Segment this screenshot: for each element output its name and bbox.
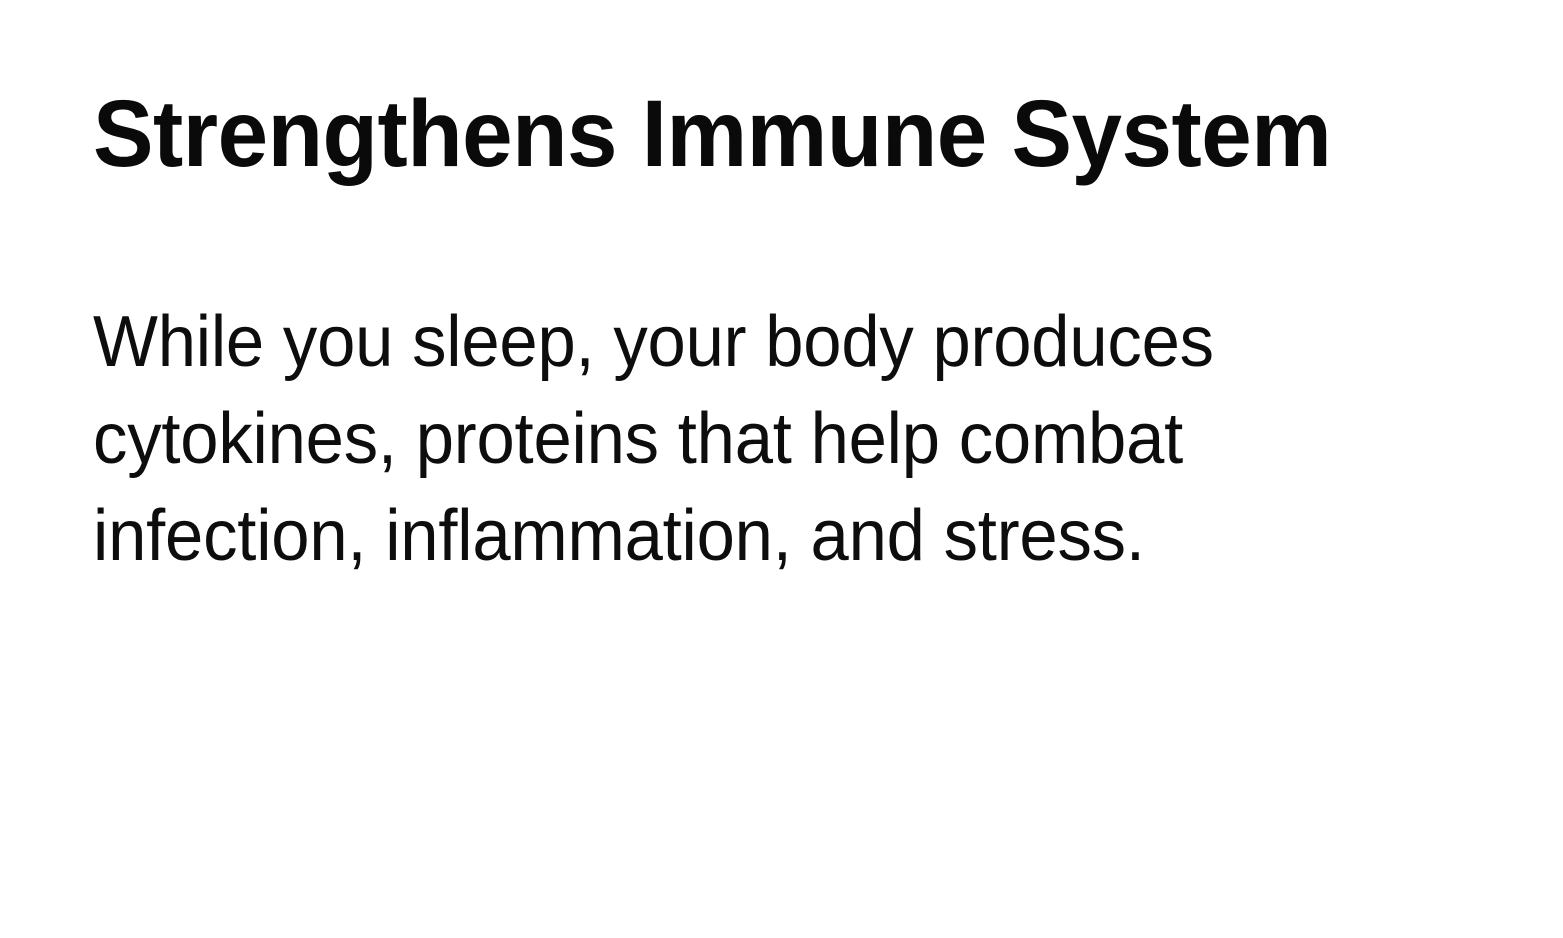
text-block: Strengthens Immune System While you slee… — [93, 78, 1433, 585]
page-title: Strengthens Immune System — [93, 78, 1373, 190]
slide-canvas: Strengthens Immune System While you slee… — [0, 0, 1563, 938]
body-paragraph: While you sleep, your body produces cyto… — [93, 294, 1325, 585]
